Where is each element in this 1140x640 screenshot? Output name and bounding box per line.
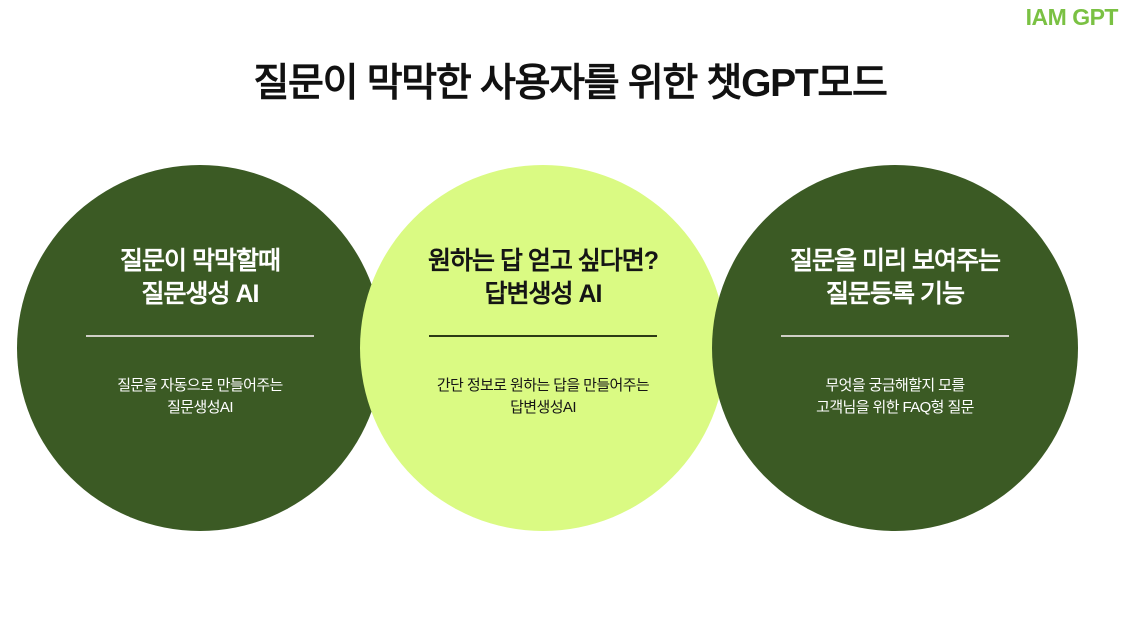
feature-divider (781, 335, 1009, 337)
feature-heading-line1: 질문을 미리 보여주는 (790, 247, 1000, 275)
feature-body-line1: 질문을 자동으로 만들어주는 (117, 377, 283, 394)
feature-divider (86, 335, 314, 337)
feature-heading: 원하는 답 얻고 싶다면? 답변생성 AI (393, 245, 693, 311)
feature-circle-question-generation-ai[interactable]: 질문이 막막할때 질문생성 AI 질문을 자동으로 만들어주는 질문생성AI (17, 165, 383, 531)
feature-heading-line2: 질문등록 기능 (745, 278, 1045, 311)
feature-body-line1: 간단 정보로 원하는 답을 만들어주는 (437, 377, 649, 394)
feature-body-line2: 고객님을 위한 FAQ형 질문 (750, 397, 1040, 419)
feature-circle-group: 질문이 막막할때 질문생성 AI 질문을 자동으로 만들어주는 질문생성AI 원… (0, 165, 1140, 535)
feature-circle-question-registration[interactable]: 질문을 미리 보여주는 질문등록 기능 무엇을 궁금해할지 모를 고객님을 위한… (712, 165, 1078, 531)
feature-heading: 질문을 미리 보여주는 질문등록 기능 (745, 245, 1045, 311)
feature-circle-answer-generation-ai[interactable]: 원하는 답 얻고 싶다면? 답변생성 AI 간단 정보로 원하는 답을 만들어주… (360, 165, 726, 531)
feature-body-line2: 답변생성AI (398, 397, 688, 419)
feature-heading-line2: 답변생성 AI (393, 278, 693, 311)
feature-body: 무엇을 궁금해할지 모를 고객님을 위한 FAQ형 질문 (750, 375, 1040, 419)
feature-heading-line1: 질문이 막막할때 (120, 247, 280, 275)
brand-logo: IAM GPT (1026, 4, 1118, 31)
feature-heading: 질문이 막막할때 질문생성 AI (50, 245, 350, 311)
feature-heading-line2: 질문생성 AI (50, 278, 350, 311)
feature-body-line1: 무엇을 궁금해할지 모를 (825, 377, 964, 394)
feature-body: 질문을 자동으로 만들어주는 질문생성AI (55, 375, 345, 419)
feature-body: 간단 정보로 원하는 답을 만들어주는 답변생성AI (398, 375, 688, 419)
feature-divider (429, 335, 657, 337)
page-title: 질문이 막막한 사용자를 위한 챗GPT모드 (0, 52, 1140, 108)
feature-heading-line1: 원하는 답 얻고 싶다면? (428, 247, 658, 275)
feature-body-line2: 질문생성AI (55, 397, 345, 419)
